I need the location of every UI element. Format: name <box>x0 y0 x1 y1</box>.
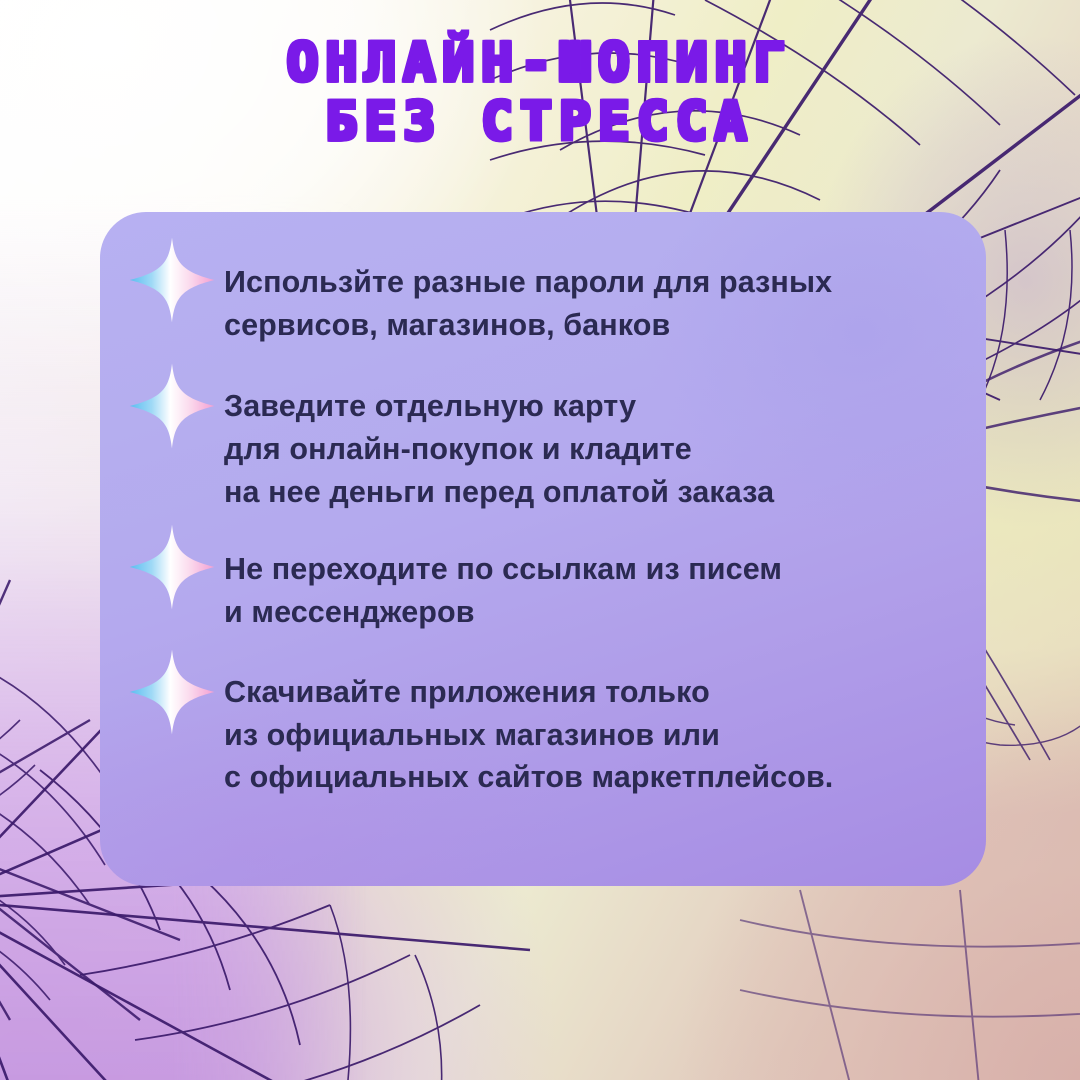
poster-canvas: ОНЛАЙН-ШОПИНГ БЕЗ СТРЕССА <box>0 0 1080 1080</box>
list-item-text: Не переходите по ссылкам из писем и месс… <box>224 533 782 633</box>
list-item: Использйте разные пароли для разных серв… <box>126 246 956 346</box>
title-line-2: БЕЗ СТРЕССА <box>0 93 1080 152</box>
tips-card: Использйте разные пароли для разных серв… <box>100 212 986 886</box>
list-item-text: Скачивайте приложения только из официаль… <box>224 656 833 799</box>
sparkle-icon <box>126 234 218 326</box>
sparkle-icon <box>126 521 218 613</box>
list-item-text: Заведите отдельную карту для онлайн-поку… <box>224 370 774 513</box>
sparkle-icon <box>126 646 218 738</box>
list-item: Скачивайте приложения только из официаль… <box>126 656 956 799</box>
list-item: Заведите отдельную карту для онлайн-поку… <box>126 370 956 513</box>
sparkle-icon <box>126 360 218 452</box>
list-item: Не переходите по ссылкам из писем и месс… <box>126 533 956 633</box>
title-line-1: ОНЛАЙН-ШОПИНГ <box>0 34 1080 93</box>
tips-list: Использйте разные пароли для разных серв… <box>126 246 956 799</box>
page-title: ОНЛАЙН-ШОПИНГ БЕЗ СТРЕССА <box>0 34 1080 153</box>
list-item-text: Использйте разные пароли для разных серв… <box>224 246 832 346</box>
